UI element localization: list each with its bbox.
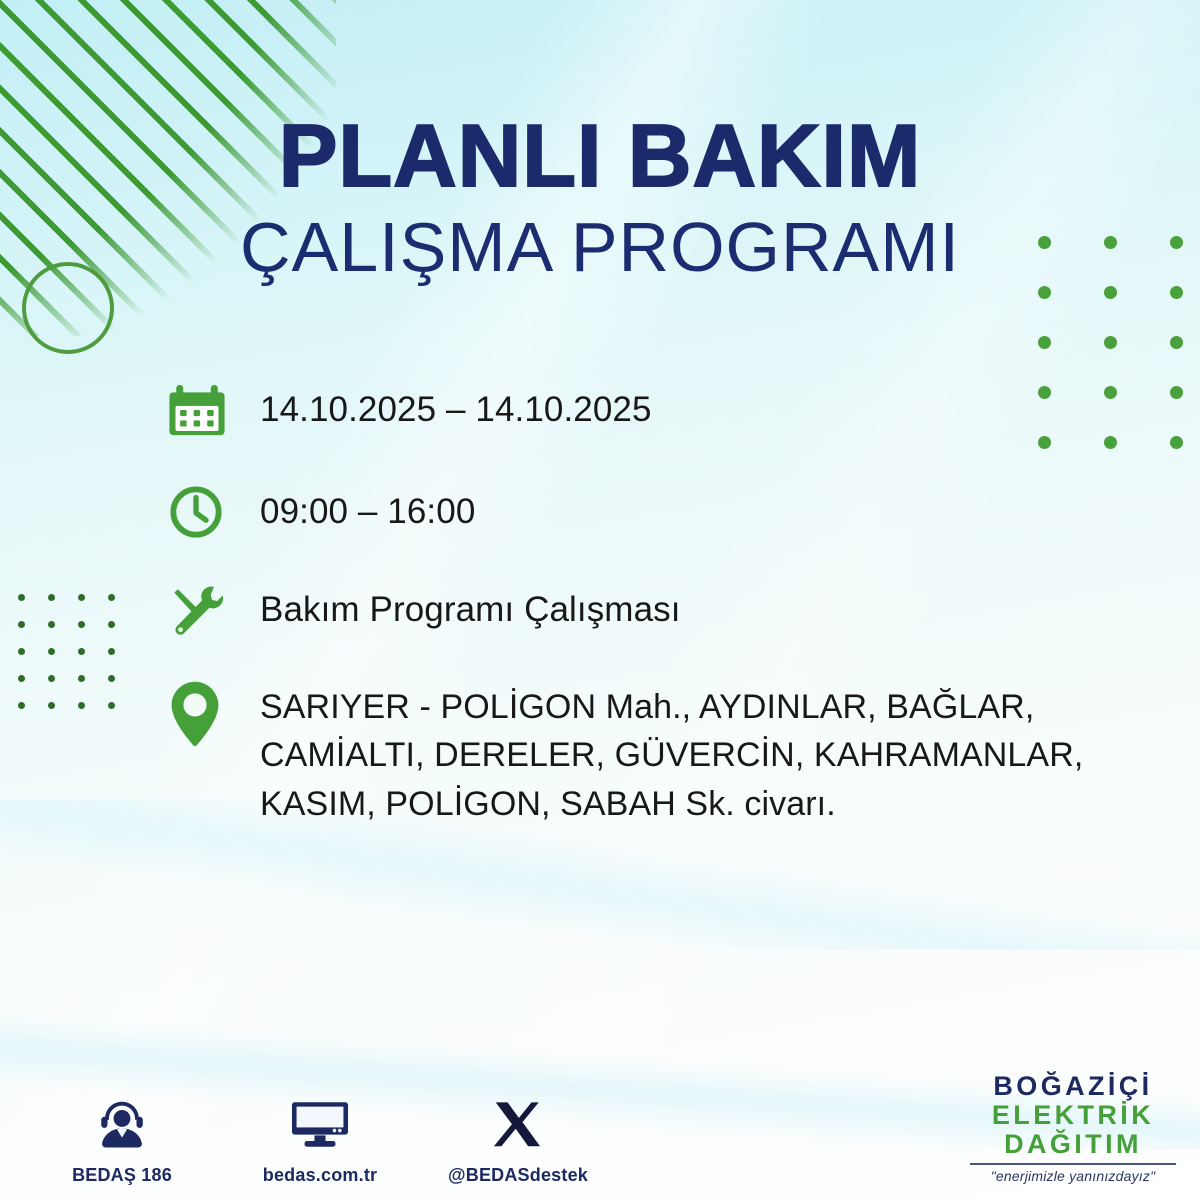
poster-heading-block: PLANLI BAKIM ÇALIŞMA PROGRAMI [0, 112, 1200, 282]
call-center-agent-icon [52, 1092, 192, 1154]
monitor-icon [250, 1092, 390, 1154]
brand-line-elektrik: ELEKTRİK [968, 1101, 1178, 1130]
brand-line-bogazici: BOĞAZİÇİ [968, 1072, 1178, 1101]
channel-x-social[interactable]: @BEDASdestek [448, 1092, 588, 1186]
detail-row-date: 14.10.2025 – 14.10.2025 [168, 382, 1148, 440]
page-subtitle: ÇALIŞMA PROGRAMI [0, 212, 1200, 282]
detail-row-work-type: Bakım Programı Çalışması [168, 582, 1148, 640]
channel-call-center[interactable]: BEDAŞ 186 [52, 1092, 192, 1186]
brand-logo: BOĞAZİÇİ ELEKTRİK DAĞITIM "enerjimizle y… [968, 1072, 1178, 1184]
channel-label: BEDAŞ 186 [52, 1165, 192, 1186]
work-type-value: Bakım Programı Çalışması [260, 582, 681, 635]
page-title: PLANLI BAKIM [0, 112, 1200, 200]
brand-divider [970, 1163, 1176, 1165]
brand-line-dagitim: DAĞITIM [968, 1130, 1178, 1159]
planned-maintenance-poster: PLANLI BAKIM ÇALIŞMA PROGRAMI [0, 0, 1200, 1200]
time-range-value: 09:00 – 16:00 [260, 484, 475, 537]
maintenance-details: 14.10.2025 – 14.10.2025 09:00 – 16:00 [168, 382, 1148, 828]
tools-icon [168, 582, 260, 640]
detail-row-time: 09:00 – 16:00 [168, 484, 1148, 540]
brand-tagline: "enerjimizle yanınızdayız" [968, 1168, 1178, 1184]
detail-row-location: SARIYER - POLİGON Mah., AYDINLAR, BAĞLAR… [168, 680, 1148, 828]
footer-contact-channels: BEDAŞ 186 bedas.com.tr [52, 1092, 588, 1186]
clock-icon [168, 484, 260, 540]
map-pin-icon [168, 680, 260, 750]
channel-label: @BEDASdestek [448, 1165, 588, 1186]
channel-label: bedas.com.tr [250, 1165, 390, 1186]
x-logo-icon [448, 1092, 588, 1154]
dot-grid-left-decoration [18, 594, 138, 729]
channel-website[interactable]: bedas.com.tr [250, 1092, 390, 1186]
location-value: SARIYER - POLİGON Mah., AYDINLAR, BAĞLAR… [260, 680, 1148, 828]
calendar-icon [168, 382, 260, 440]
date-range-value: 14.10.2025 – 14.10.2025 [260, 382, 652, 435]
